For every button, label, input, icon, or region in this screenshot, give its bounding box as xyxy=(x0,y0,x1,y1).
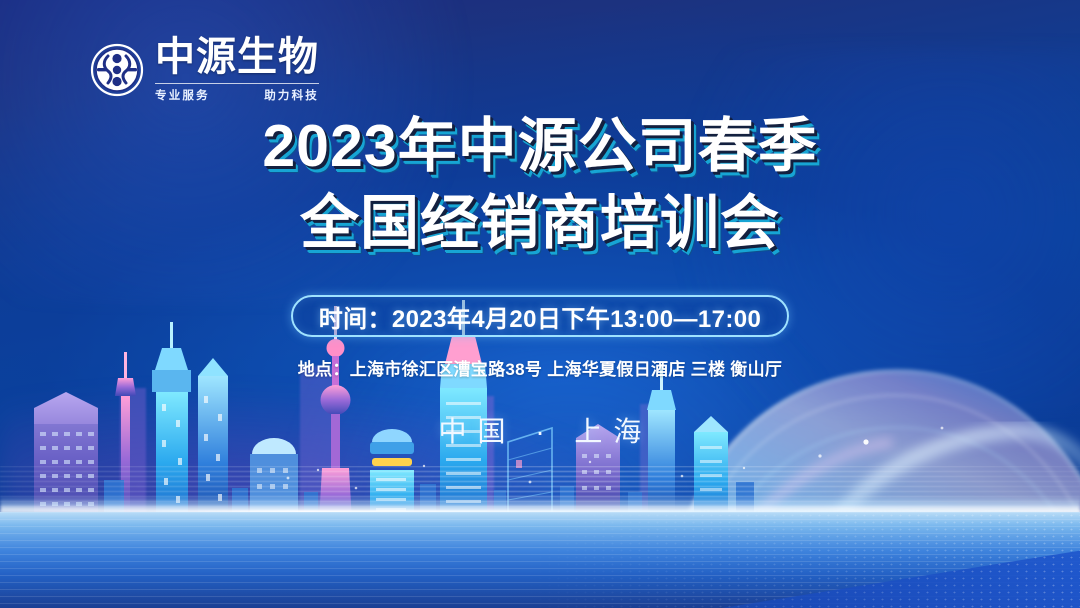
event-time-pill: 时间：2023年4月20日下午13:00—17:00 xyxy=(291,295,790,337)
title-line-2: 全国经销商培训会 xyxy=(0,189,1080,258)
event-banner: 中源生物 专业服务 助力科技 2023年中源公司春季 全国经销商培训会 时间：2… xyxy=(0,0,1080,608)
tagline-right: 助力科技 xyxy=(264,87,319,103)
circular-biotech-emblem-icon xyxy=(90,43,144,97)
logo-divider xyxy=(155,83,319,84)
water-dot-grid xyxy=(518,512,1080,608)
company-tagline: 专业服务 助力科技 xyxy=(155,87,319,103)
logo-wordmark: 中源生物 专业服务 助力科技 xyxy=(155,36,319,103)
event-title: 2023年中源公司春季 全国经销商培训会 xyxy=(0,112,1080,258)
event-place: 中国 · 上海 xyxy=(0,410,1080,450)
event-address: 地点：上海市徐汇区漕宝路38号 上海华夏假日酒店 三楼 衡山厅 xyxy=(0,355,1080,380)
company-logo: 中源生物 专业服务 助力科技 xyxy=(90,36,319,103)
title-line-1: 2023年中源公司春季 xyxy=(0,112,1080,181)
event-time-row: 时间：2023年4月20日下午13:00—17:00 xyxy=(0,295,1080,337)
company-name: 中源生物 xyxy=(155,36,319,78)
event-time-text: 时间：2023年4月20日下午13:00—17:00 xyxy=(319,299,762,334)
tagline-left: 专业服务 xyxy=(155,87,210,103)
